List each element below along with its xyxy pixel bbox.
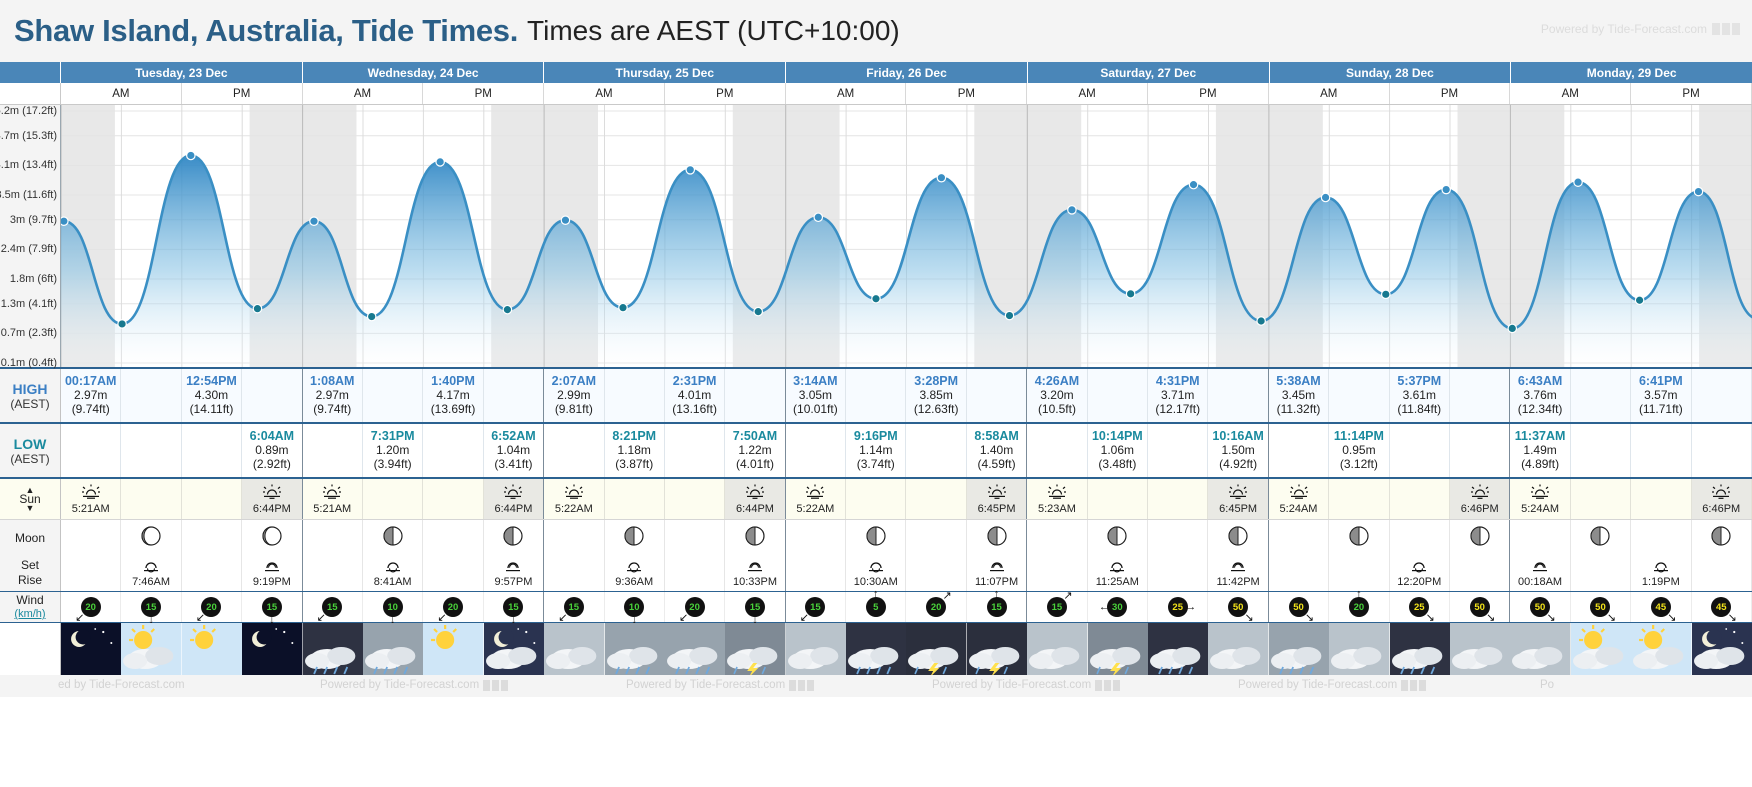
moon-event-cell-16 (1027, 555, 1087, 591)
high-tide-cell-17 (1088, 369, 1148, 422)
low-tide-cell-13: 9:16PM1.14m(3.74ft) (846, 424, 906, 477)
day-header-label: Saturday, 27 Dec (1100, 66, 1196, 80)
wind-cell-26: 45↘ (1631, 592, 1691, 622)
moon-phase-cell-13 (846, 520, 906, 555)
sunset-icon (745, 483, 765, 502)
high-tide-height-ft: (10.01ft) (793, 402, 838, 416)
high-tide-time: 3:14AM (793, 374, 837, 388)
ampm-cell-8: AM (1027, 83, 1148, 104)
moon-event-cell-15: 11:07PM (967, 555, 1027, 591)
high-tide-cell-3 (242, 369, 302, 422)
day-header-5: Sunday, 28 Dec (1270, 62, 1512, 83)
ampm-cell-5: PM (665, 83, 786, 104)
logo-bars-icon (1401, 680, 1426, 691)
page-footer: ed by Tide-Forecast.comPowered by Tide-F… (0, 675, 1752, 697)
sun-cell-8: 5:22AM (544, 479, 604, 519)
moon-event-time: 8:41AM (374, 576, 412, 588)
weather-icon-partly-cloudy-day (1631, 623, 1691, 675)
day-header-0: Tuesday, 23 Dec (61, 62, 303, 83)
low-tide-height-ft: (4.89ft) (1521, 457, 1559, 471)
moon-event-cell-5: 8:41AM (363, 555, 423, 591)
sunrise-icon (564, 483, 584, 502)
weather-icon-cloudy (1450, 623, 1510, 675)
day-header-3: Friday, 26 Dec (786, 62, 1028, 83)
high-tide-cell-25 (1571, 369, 1631, 422)
moon-phase-cell-19 (1208, 520, 1268, 555)
moon-phase-cell-7 (484, 520, 544, 555)
moon-event-cell-7: 9:57PM (484, 555, 544, 591)
high-tide-time: 1:08AM (310, 374, 354, 388)
high-tide-height-ft: (11.71ft) (1639, 402, 1683, 416)
low-tide-height-m: 1.18m (618, 443, 651, 457)
wind-cell-17: 30← (1088, 592, 1148, 622)
sunrise-icon (805, 483, 825, 502)
ampm-header-row: AMPMAMPMAMPMAMPMAMPMAMPMAMPM (0, 83, 1752, 105)
moon-event-time: 10:33PM (733, 576, 777, 588)
wind-speed-badge: 15 (987, 597, 1007, 617)
moon-phase-icon (261, 525, 283, 550)
high-tide-time: 00:17AM (65, 374, 116, 388)
ampm-cell-12: AM (1510, 83, 1631, 104)
wind-label-text: Wind (16, 593, 43, 607)
footer-watermark: ed by Tide-Forecast.com (58, 679, 185, 691)
y-axis-tick-label: 3.5m (11.6ft) (0, 189, 57, 201)
low-tide-cell-6 (423, 424, 483, 477)
high-tide-height-ft: (9.74ft) (72, 402, 110, 416)
high-tide-height-m: 3.05m (799, 388, 832, 402)
weather-icon-partly-cloudy-day (121, 623, 181, 675)
wind-cell-19: 50↘ (1208, 592, 1268, 622)
low-tide-time: 11:37AM (1515, 429, 1566, 443)
wind-direction-arrow-icon: ↑ (994, 589, 1000, 600)
high-tide-height-m: 3.45m (1282, 388, 1315, 402)
wind-cell-16: 15↗ (1027, 592, 1087, 622)
moon-event-time: 9:36AM (615, 576, 653, 588)
sun-time: 6:46PM (1461, 503, 1499, 515)
day-header-label: Thursday, 25 Dec (616, 66, 714, 80)
day-header-label: Monday, 29 Dec (1587, 66, 1677, 80)
high-tide-cell-0: 00:17AM2.97m(9.74ft) (61, 369, 121, 422)
chart-y-axis: 5.2m (17.2ft)4.7m (15.3ft)4.1m (13.4ft)3… (0, 105, 61, 367)
low-tide-height-ft: (3.74ft) (857, 457, 895, 471)
sun-cell-2 (182, 479, 242, 519)
low-tide-cell-19: 10:16AM1.50m(4.92ft) (1208, 424, 1268, 477)
weather-icon-thunderstorm (725, 623, 785, 675)
moon-event-time: 7:46AM (132, 576, 170, 588)
weather-icon-cloudy (544, 623, 604, 675)
moonrise-icon (503, 559, 523, 576)
wind-cell-15: 15↑ (967, 592, 1027, 622)
low-tide-cell-27 (1692, 424, 1752, 477)
sun-time: 6:46PM (1702, 503, 1740, 515)
high-tide-label: HIGH (AEST) (0, 369, 61, 422)
high-tide-height-m: 2.99m (557, 388, 590, 402)
day-header-row: Tuesday, 23 DecWednesday, 24 DecThursday… (0, 62, 1752, 83)
moon-event-cell-20 (1269, 555, 1329, 591)
ampm-cell-3: PM (423, 83, 544, 104)
footer-watermark-text: Powered by Tide-Forecast.com (320, 679, 479, 691)
high-tide-time: 4:26AM (1035, 374, 1079, 388)
sun-cell-21 (1329, 479, 1389, 519)
wind-cell-20: 50↘ (1269, 592, 1329, 622)
y-axis-tick-label: 0.7m (2.3ft) (1, 327, 57, 339)
moon-phase-cell-10 (665, 520, 725, 555)
moon-phase-icon (1227, 525, 1249, 550)
sunrise-icon (81, 483, 101, 502)
sun-time: 5:23AM (1038, 503, 1076, 515)
high-tide-cell-9 (605, 369, 665, 422)
moon-event-cell-21 (1329, 555, 1389, 591)
high-tide-cell-1 (121, 369, 181, 422)
moon-event-cell-2 (182, 555, 242, 591)
high-tide-cell-27 (1692, 369, 1752, 422)
powered-by-watermark: Powered by Tide-Forecast.com (1541, 22, 1740, 36)
moonset-icon (1409, 559, 1429, 576)
low-tide-cell-26 (1631, 424, 1691, 477)
low-tide-cell-17: 10:14PM1.06m(3.48ft) (1088, 424, 1148, 477)
low-tide-cell-5: 7:31PM1.20m(3.94ft) (363, 424, 423, 477)
low-tide-cell-23 (1450, 424, 1510, 477)
moon-event-cell-12 (786, 555, 846, 591)
wind-cell-14: 20↗ (906, 592, 966, 622)
high-tide-time: 6:43AM (1518, 374, 1562, 388)
high-tide-height-ft: (10.5ft) (1038, 402, 1076, 416)
wind-direction-arrow-icon: ↘ (1305, 613, 1314, 624)
moon-phase-cell-3 (242, 520, 302, 555)
wind-direction-arrow-icon: ↘ (1667, 613, 1676, 624)
moon-phase-icon (1469, 525, 1491, 550)
moon-phase-icon (1589, 525, 1611, 550)
weather-icon-rain (1269, 623, 1329, 675)
weather-icon-cloudy (786, 623, 846, 675)
low-tide-height-ft: (2.92ft) (253, 457, 291, 471)
ampm-cell-9: PM (1148, 83, 1269, 104)
wind-direction-arrow-icon: ↙ (558, 613, 567, 624)
sun-time: 5:21AM (313, 503, 351, 515)
ampm-cell-13: PM (1631, 83, 1752, 104)
sun-cell-26 (1631, 479, 1691, 519)
sun-cell-24: 5:24AM (1510, 479, 1570, 519)
moon-label-text: Moon (15, 531, 45, 545)
low-tide-cell-4 (303, 424, 363, 477)
set-label-text: Set (21, 558, 39, 573)
high-tide-row: HIGH (AEST) 00:17AM2.97m(9.74ft)12:54PM4… (0, 367, 1752, 422)
wind-direction-arrow-icon: → (1185, 602, 1196, 613)
moon-event-time: 12:20PM (1397, 576, 1441, 588)
sun-time: 6:44PM (494, 503, 532, 515)
low-tide-cell-3: 6:04AM0.89m(2.92ft) (242, 424, 302, 477)
moonrise-icon (745, 559, 765, 576)
moon-event-time: 11:42PM (1217, 576, 1260, 588)
sun-cell-5 (363, 479, 423, 519)
y-axis-tick-label: 1.3m (4.1ft) (1, 298, 57, 310)
rise-label-text: Rise (18, 573, 42, 588)
moonrise-icon (1228, 559, 1248, 576)
moon-event-cell-17: 11:25AM (1088, 555, 1148, 591)
sun-cell-22 (1390, 479, 1450, 519)
moon-event-cell-26: 1:19PM (1631, 555, 1691, 591)
sun-cell-23: 6:46PM (1450, 479, 1510, 519)
moon-phase-icon (382, 525, 404, 550)
weather-icon-rain (665, 623, 725, 675)
high-tide-time: 2:07AM (552, 374, 596, 388)
moon-phase-cell-4 (303, 520, 363, 555)
wind-direction-arrow-icon: ↗ (943, 591, 952, 602)
logo-bars-icon (483, 680, 508, 691)
moon-phase-cell-25 (1571, 520, 1631, 555)
sunset-icon (1228, 483, 1248, 502)
wind-direction-arrow-icon: ↑ (1356, 589, 1362, 600)
day-header-label: Wednesday, 24 Dec (368, 66, 479, 80)
moon-phase-icon (744, 525, 766, 550)
low-label-text: LOW (14, 436, 47, 452)
wind-direction-arrow-icon: ↙ (196, 613, 205, 624)
sun-time: 6:45PM (1219, 503, 1257, 515)
day-header-4: Saturday, 27 Dec (1028, 62, 1270, 83)
moon-phase-icon (623, 525, 645, 550)
logo-bars-icon (1712, 23, 1740, 35)
high-tide-height-ft: (11.84ft) (1397, 402, 1441, 416)
weather-icon-rain-night (303, 623, 363, 675)
high-tide-cell-19 (1208, 369, 1268, 422)
moon-phase-cell-16 (1027, 520, 1087, 555)
high-tide-cell-20: 5:38AM3.45m(11.32ft) (1269, 369, 1329, 422)
moon-phase-icon (1710, 525, 1732, 550)
moon-phase-cell-2 (182, 520, 242, 555)
weather-row-label (0, 623, 61, 675)
low-tide-height-ft: (4.92ft) (1219, 457, 1257, 471)
weather-icon-rain (363, 623, 423, 675)
high-tide-time: 12:54PM (186, 374, 237, 388)
low-tide-height-ft: (3.41ft) (494, 457, 532, 471)
high-tide-cell-18: 4:31PM3.71m(12.17ft) (1148, 369, 1208, 422)
sunset-icon (262, 483, 282, 502)
high-tide-cell-15 (967, 369, 1027, 422)
high-tide-height-ft: (12.63ft) (914, 402, 959, 416)
wind-cell-21: 20↑ (1329, 592, 1389, 622)
high-tide-cell-4: 1:08AM2.97m(9.74ft) (303, 369, 363, 422)
moon-event-time: 9:19PM (253, 576, 291, 588)
sun-cell-14 (906, 479, 966, 519)
low-tide-time: 8:58AM (974, 429, 1018, 443)
moon-phase-cell-23 (1450, 520, 1510, 555)
wind-direction-arrow-icon: ↙ (679, 613, 688, 624)
moon-phase-cell-21 (1329, 520, 1389, 555)
high-tide-cell-11 (725, 369, 785, 422)
moon-event-time: 9:57PM (494, 576, 532, 588)
moon-phase-cell-22 (1390, 520, 1450, 555)
low-tide-height-m: 1.40m (980, 443, 1013, 457)
low-tide-height-ft: (4.01ft) (736, 457, 774, 471)
wind-unit-link[interactable]: (km/h) (14, 607, 45, 621)
weather-icon-thunderstorm-night (906, 623, 966, 675)
footer-watermark: Powered by Tide-Forecast.com (1238, 679, 1426, 691)
sunset-icon (1711, 483, 1731, 502)
high-tide-height-m: 4.17m (436, 388, 469, 402)
sun-time: 6:44PM (736, 503, 774, 515)
moon-event-cell-8 (544, 555, 604, 591)
wind-cell-13: 5↑ (846, 592, 906, 622)
low-tide-cell-8 (544, 424, 604, 477)
moon-phase-cell-27 (1692, 520, 1752, 555)
moon-phase-cell-8 (544, 520, 604, 555)
ampm-cell-2: AM (303, 83, 424, 104)
day-header-label: Friday, 26 Dec (866, 66, 946, 80)
high-tide-cell-2: 12:54PM4.30m(14.11ft) (182, 369, 242, 422)
day-header-2: Thursday, 25 Dec (544, 62, 786, 83)
sun-time: 5:22AM (555, 503, 593, 515)
moon-event-cell-27 (1692, 555, 1752, 591)
tide-curve-svg (61, 105, 1752, 367)
wind-speed-badge: 30 (1107, 597, 1127, 617)
sun-cell-12: 5:22AM (786, 479, 846, 519)
high-tide-cell-12: 3:14AM3.05m(10.01ft) (786, 369, 846, 422)
moon-phase-icon (1106, 525, 1128, 550)
low-tide-height-m: 1.22m (738, 443, 771, 457)
moon-phase-row: Moon (0, 519, 1752, 555)
sun-cell-13 (846, 479, 906, 519)
wind-direction-arrow-icon: ↘ (1728, 613, 1737, 624)
high-tide-height-m: 4.30m (195, 388, 228, 402)
high-tide-cell-5 (363, 369, 423, 422)
wind-direction-arrow-icon: ↙ (75, 613, 84, 624)
high-tide-cell-6: 1:40PM4.17m(13.69ft) (423, 369, 483, 422)
weather-icon-partly-cloudy-day (1571, 623, 1631, 675)
high-tide-cell-7 (484, 369, 544, 422)
tide-curve-plot (61, 105, 1752, 367)
low-tide-cell-7: 6:52AM1.04m(3.41ft) (484, 424, 544, 477)
moon-event-cell-14 (906, 555, 966, 591)
timezone-note: Times are AEST (UTC+10:00) (527, 15, 900, 47)
high-tide-cell-22: 5:37PM3.61m(11.84ft) (1390, 369, 1450, 422)
day-header-label: Sunday, 28 Dec (1346, 66, 1434, 80)
weather-icon-sunny (182, 623, 242, 675)
moon-event-cell-25 (1571, 555, 1631, 591)
weather-icon-row (0, 623, 1752, 675)
low-tide-height-m: 0.89m (255, 443, 288, 457)
moon-event-cell-0 (61, 555, 121, 591)
sun-cell-4: 5:21AM (303, 479, 363, 519)
footer-watermark-text: Powered by Tide-Forecast.com (932, 679, 1091, 691)
moon-phase-cell-5 (363, 520, 423, 555)
high-tide-height-ft: (9.74ft) (313, 402, 351, 416)
moon-event-cell-3: 9:19PM (242, 555, 302, 591)
high-tide-height-ft: (9.81ft) (555, 402, 593, 416)
moonset-icon (624, 559, 644, 576)
low-tide-height-m: 1.20m (376, 443, 409, 457)
moon-event-time: 00:18AM (1518, 576, 1562, 588)
moon-event-cell-9: 9:36AM (605, 555, 665, 591)
moon-phase-cell-15 (967, 520, 1027, 555)
moon-setrise-label: Set Rise (0, 555, 61, 591)
weather-icon-cloudy (1329, 623, 1389, 675)
y-axis-tick-label: 5.2m (17.2ft) (0, 105, 57, 117)
sun-time: 5:22AM (796, 503, 834, 515)
wind-cell-27: 45↘ (1692, 592, 1752, 622)
day-header-1: Wednesday, 24 Dec (303, 62, 545, 83)
sun-cell-19: 6:45PM (1208, 479, 1268, 519)
high-tide-cell-24: 6:43AM3.76m(12.34ft) (1510, 369, 1570, 422)
high-tide-height-m: 2.97m (316, 388, 349, 402)
low-tide-time: 9:16PM (854, 429, 898, 443)
sun-time: 5:24AM (1280, 503, 1318, 515)
low-tide-cell-0 (61, 424, 121, 477)
moonset-icon (1107, 559, 1127, 576)
page-title: Shaw Island, Australia, Tide Times. (14, 13, 518, 49)
wind-direction-arrow-icon: ↘ (1426, 613, 1435, 624)
footer-watermark: Po (1540, 679, 1554, 691)
sunrise-icon (1047, 483, 1067, 502)
high-tide-height-ft: (13.69ft) (431, 402, 476, 416)
weather-icon-rain-night (1390, 623, 1450, 675)
wind-cell-11: 15↓ (725, 592, 785, 622)
moon-phase-cell-24 (1510, 520, 1570, 555)
high-tide-cell-10: 2:31PM4.01m(13.16ft) (665, 369, 725, 422)
low-tide-height-ft: (3.94ft) (374, 457, 412, 471)
low-tide-cell-11: 7:50AM1.22m(4.01ft) (725, 424, 785, 477)
moon-event-cell-6 (423, 555, 483, 591)
moon-phase-cell-9 (605, 520, 665, 555)
weather-icon-clear-night (61, 623, 121, 675)
ampm-corner (0, 83, 61, 104)
sun-cell-3: 6:44PM (242, 479, 302, 519)
sun-cell-6 (423, 479, 483, 519)
wind-cell-9: 10↓ (605, 592, 665, 622)
low-tide-time: 7:31PM (371, 429, 415, 443)
high-tide-time: 1:40PM (431, 374, 475, 388)
sunrise-icon (1530, 483, 1550, 502)
moonrise-icon (987, 559, 1007, 576)
sun-cell-0: 5:21AM (61, 479, 121, 519)
moon-phase-icon (1348, 525, 1370, 550)
moon-event-time: 11:07PM (975, 576, 1018, 588)
moon-event-cell-13: 10:30AM (846, 555, 906, 591)
low-tide-time: 8:21PM (612, 429, 656, 443)
high-tide-height-ft: (12.17ft) (1155, 402, 1200, 416)
weather-icon-rain (605, 623, 665, 675)
wind-cell-7: 15↓ (484, 592, 544, 622)
wind-speed-badge: 20 (1349, 597, 1369, 617)
high-tide-time: 5:37PM (1397, 374, 1441, 388)
wind-cell-0: 20↙ (61, 592, 121, 622)
moon-event-cell-4 (303, 555, 363, 591)
low-label-tz: (AEST) (10, 452, 49, 466)
weather-icon-cloudy (1510, 623, 1570, 675)
low-tide-cell-20 (1269, 424, 1329, 477)
high-tide-cell-26: 6:41PM3.57m(11.71ft) (1631, 369, 1691, 422)
low-tide-cell-25 (1571, 424, 1631, 477)
wind-speed-badge: 5 (866, 597, 886, 617)
weather-icon-thunderstorm-night (967, 623, 1027, 675)
wind-cell-6: 20↙ (423, 592, 483, 622)
low-tide-cell-12 (786, 424, 846, 477)
high-tide-height-ft: (12.34ft) (1518, 402, 1563, 416)
high-tide-height-m: 3.76m (1523, 388, 1556, 402)
high-tide-cell-13 (846, 369, 906, 422)
wind-cell-22: 25↘ (1390, 592, 1450, 622)
wind-cell-1: 15↓ (121, 592, 181, 622)
high-tide-height-m: 3.20m (1040, 388, 1073, 402)
weather-icon-rain-night (1148, 623, 1208, 675)
high-tide-time: 2:31PM (673, 374, 717, 388)
moon-phase-icon (502, 525, 524, 550)
sun-cell-27: 6:46PM (1692, 479, 1752, 519)
high-tide-time: 3:28PM (914, 374, 958, 388)
wind-direction-arrow-icon: ↙ (800, 613, 809, 624)
weather-icon-sunny (423, 623, 483, 675)
wind-cell-8: 15↙ (544, 592, 604, 622)
sun-row-label: ▲ Sun ▼ (0, 479, 61, 519)
